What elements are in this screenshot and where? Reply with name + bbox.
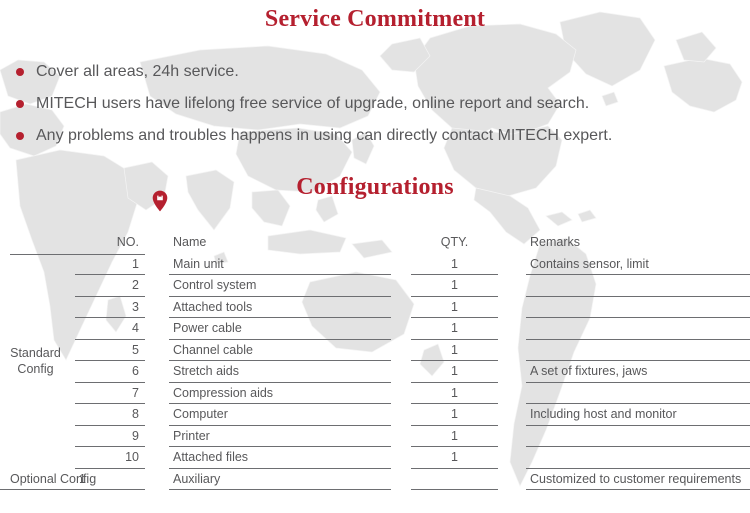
page-title-configurations: Configurations — [0, 174, 750, 201]
list-item-label: MITECH users have lifelong free service … — [36, 95, 589, 112]
row-group-label-optional: Optional Config — [0, 469, 75, 491]
cell-no: 1 — [75, 469, 145, 491]
service-commitment-list: Cover all areas, 24h service. MITECH use… — [14, 56, 739, 152]
cell-name: Attached files — [169, 447, 391, 469]
cell-remarks: Contains sensor, limit — [526, 254, 750, 276]
bullet-icon — [16, 100, 24, 108]
cell-qty: 1 — [411, 426, 498, 448]
cell-qty: 1 — [411, 340, 498, 362]
cell-no: 10 — [75, 447, 145, 469]
cell-qty: 1 — [411, 447, 498, 469]
cell-name: Channel cable — [169, 340, 391, 362]
cell-no: 1 — [75, 254, 145, 276]
cell-no: 3 — [75, 297, 145, 319]
table-row: Standard Config 1 Main unit 1 Contains s… — [0, 254, 750, 276]
row-group-label-line1: Standard — [0, 345, 75, 361]
cell-remarks: Customized to customer requirements — [526, 469, 750, 491]
table-row: 3 Attached tools 1 — [0, 297, 750, 319]
cell-remarks: A set of fixtures, jaws — [526, 361, 750, 383]
location-pin-icon — [152, 190, 168, 217]
cell-name: Stretch aids — [169, 361, 391, 383]
header-cell-remarks: Remarks — [526, 232, 750, 254]
header-cell-qty: QTY. — [411, 232, 498, 254]
column-header-name: Name — [169, 232, 391, 254]
list-item-label: Any problems and troubles happens in usi… — [36, 127, 612, 144]
list-item: Any problems and troubles happens in usi… — [14, 120, 739, 152]
list-item: MITECH users have lifelong free service … — [14, 88, 739, 120]
bullet-icon — [16, 132, 24, 140]
cell-name: Computer — [169, 404, 391, 426]
column-header-qty: QTY. — [411, 232, 498, 254]
row-group-standard-config: Standard Config — [0, 254, 75, 469]
cell-qty: 1 — [411, 383, 498, 405]
cell-no: 5 — [75, 340, 145, 362]
cell-no: 4 — [75, 318, 145, 340]
column-header-no: NO. — [75, 232, 145, 254]
configurations-table: NO. Name QTY. Remarks Standard Config 1 … — [0, 232, 750, 490]
cell-no: 6 — [75, 361, 145, 383]
column-header-remarks: Remarks — [526, 232, 750, 254]
cell-qty: 1 — [411, 404, 498, 426]
cell-qty: 1 — [411, 318, 498, 340]
cell-name: Control system — [169, 275, 391, 297]
list-item: Cover all areas, 24h service. — [14, 56, 739, 88]
table-row-optional-config: Optional Config 1 Auxiliary Customized t… — [0, 469, 750, 491]
cell-name: Attached tools — [169, 297, 391, 319]
table-row: 4 Power cable 1 — [0, 318, 750, 340]
cell-qty: 1 — [411, 361, 498, 383]
table-row: 8 Computer 1 Including host and monitor — [0, 404, 750, 426]
cell-name: Compression aids — [169, 383, 391, 405]
cell-no: 9 — [75, 426, 145, 448]
cell-no: 8 — [75, 404, 145, 426]
cell-remarks — [526, 340, 750, 362]
header-rule-no-column — [10, 254, 145, 255]
cell-no: 7 — [75, 383, 145, 405]
cell-name: Auxiliary — [169, 469, 391, 491]
table-row: 7 Compression aids 1 — [0, 383, 750, 405]
page-title-service-commitment: Service Commitment — [0, 6, 750, 33]
bullet-icon — [16, 68, 24, 76]
table-row: 2 Control system 1 — [0, 275, 750, 297]
cell-remarks — [526, 297, 750, 319]
cell-qty: 1 — [411, 254, 498, 276]
list-item-label: Cover all areas, 24h service. — [36, 63, 239, 80]
cell-remarks — [526, 383, 750, 405]
cell-remarks: Including host and monitor — [526, 404, 750, 426]
cell-remarks — [526, 426, 750, 448]
row-group-optional-config: Optional Config — [0, 469, 75, 491]
table-header-row: NO. Name QTY. Remarks — [0, 232, 750, 254]
row-group-label-line2: Config — [0, 361, 75, 377]
table-row: 5 Channel cable 1 — [0, 340, 750, 362]
cell-qty — [411, 469, 498, 491]
cell-remarks — [526, 275, 750, 297]
cell-name: Main unit — [169, 254, 391, 276]
header-cell-no: NO. — [75, 232, 145, 254]
cell-qty: 1 — [411, 275, 498, 297]
cell-qty: 1 — [411, 297, 498, 319]
table-row: 6 Stretch aids 1 A set of fixtures, jaws — [0, 361, 750, 383]
cell-remarks — [526, 447, 750, 469]
cell-remarks — [526, 318, 750, 340]
cell-name: Printer — [169, 426, 391, 448]
table-row: 9 Printer 1 — [0, 426, 750, 448]
table-row: 10 Attached files 1 — [0, 447, 750, 469]
header-cell-name: Name — [169, 232, 391, 254]
header-cell-group — [0, 232, 75, 254]
cell-name: Power cable — [169, 318, 391, 340]
cell-no: 2 — [75, 275, 145, 297]
